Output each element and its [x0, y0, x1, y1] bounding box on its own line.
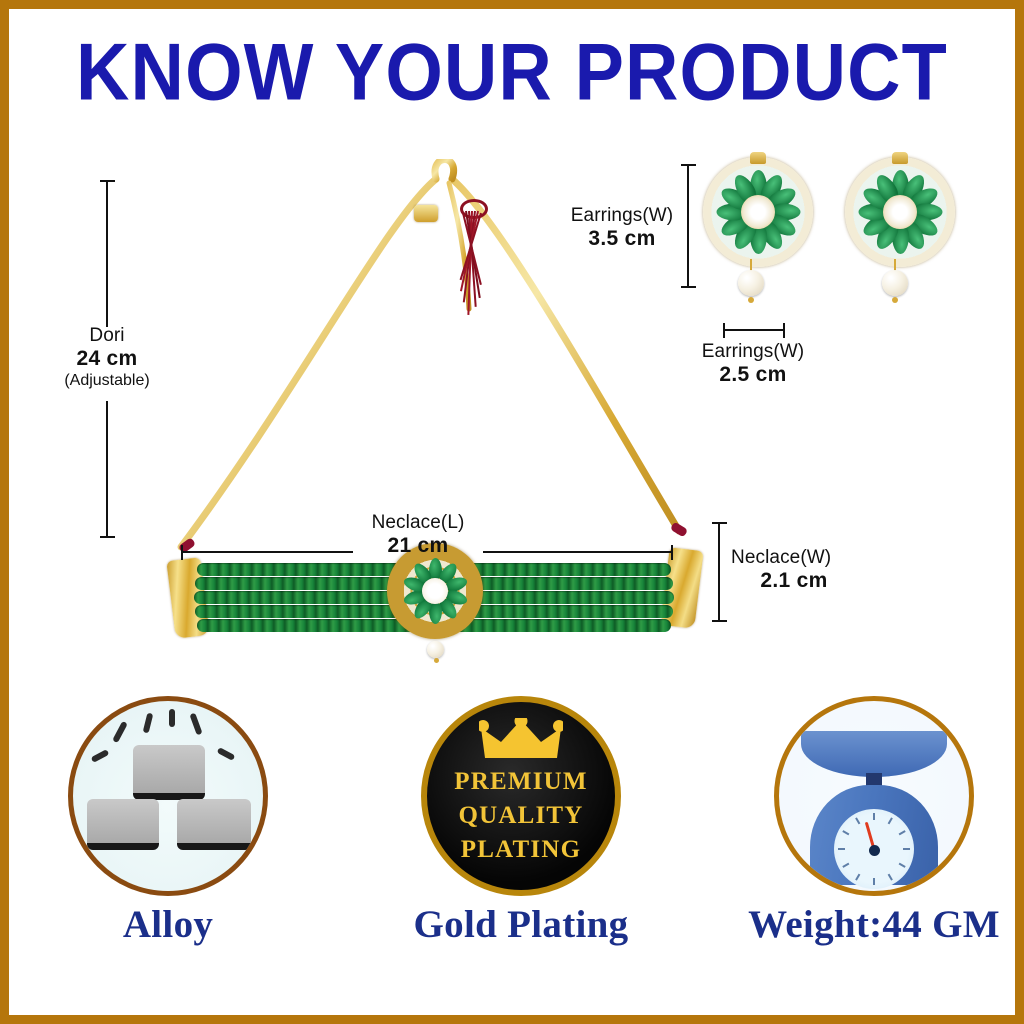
- earrings-height-value: 3.5 cm: [559, 227, 685, 252]
- dori-line-lower: [106, 401, 108, 537]
- dori-slider-bead: [414, 205, 438, 222]
- necklace-width-line: [718, 523, 720, 621]
- earrings-width-right-tick: [783, 323, 785, 338]
- necklace-length-line-right: [483, 551, 672, 553]
- dori-line-upper: [106, 181, 108, 327]
- kitchen-scale-icon: [774, 696, 974, 896]
- maroon-tassel: [454, 199, 494, 319]
- pendant-pearl-drop: [427, 641, 444, 658]
- necklace-length-line-left: [182, 551, 353, 553]
- earring-right: [845, 157, 955, 267]
- necklace-width-bottom-tick: [712, 620, 727, 622]
- metal-ingots-icon: [68, 696, 268, 896]
- necklace-width-label-group: Neclace(W) 2.1 cm: [731, 547, 877, 594]
- necklace-width-value: 2.1 cm: [731, 569, 857, 594]
- earring-right-pearl: [882, 270, 908, 296]
- feature-badges: Alloy PREMIUM QUALITY PLATING Gold Plati…: [18, 696, 1024, 1006]
- product-infographic: KNOW YOUR PRODUCT Dori 24 cm (Adjustable…: [0, 0, 1024, 1024]
- earring-stud: [750, 152, 766, 164]
- earring-center-stone: [741, 195, 775, 229]
- earrings-width-line: [724, 329, 784, 331]
- earring-stud: [892, 152, 908, 164]
- earrings-height-bottom-tick: [681, 286, 696, 288]
- earring-center-stone: [883, 195, 917, 229]
- necklace-length-right-tick: [671, 545, 673, 560]
- earrings-height-line: [687, 165, 689, 287]
- premium-seal-line-2: QUALITY: [427, 802, 615, 830]
- badge-gold-plating: PREMIUM QUALITY PLATING Gold Plating: [371, 696, 671, 947]
- earrings-width-value: 2.5 cm: [690, 363, 816, 388]
- pendant-drop-tip: [434, 658, 439, 663]
- earring-right-drop-tip: [892, 297, 898, 303]
- necklace-length-label-group: Neclace(L) 21 cm: [355, 512, 481, 559]
- premium-seal-line-1: PREMIUM: [427, 768, 615, 796]
- earring-left: [703, 157, 813, 267]
- necklace-width-name: Neclace(W): [731, 547, 877, 569]
- earrings-width-label-group: Earrings(W) 2.5 cm: [690, 341, 816, 388]
- badge-gold-plating-label: Gold Plating: [371, 902, 671, 947]
- page-title: KNOW YOUR PRODUCT: [0, 31, 1024, 112]
- badge-alloy: Alloy: [18, 696, 318, 947]
- badge-weight: Weight:44 GM: [724, 696, 1024, 947]
- necklace-length-value: 21 cm: [355, 534, 481, 559]
- premium-seal-icon: PREMIUM QUALITY PLATING: [421, 696, 621, 896]
- necklace-length-name: Neclace(L): [355, 512, 481, 534]
- crown-icon: [479, 718, 563, 762]
- earrings-width-name: Earrings(W): [690, 341, 816, 363]
- earrings-height-label-group: Earrings(W) 3.5 cm: [559, 205, 685, 252]
- earrings-height-name: Earrings(W): [559, 205, 685, 227]
- dori-bottom-tick: [100, 536, 115, 538]
- badge-alloy-label: Alloy: [18, 902, 318, 947]
- badge-weight-label: Weight:44 GM: [724, 902, 1024, 947]
- earring-left-pearl: [738, 270, 764, 296]
- premium-seal-line-3: PLATING: [427, 836, 615, 864]
- earring-left-drop-tip: [748, 297, 754, 303]
